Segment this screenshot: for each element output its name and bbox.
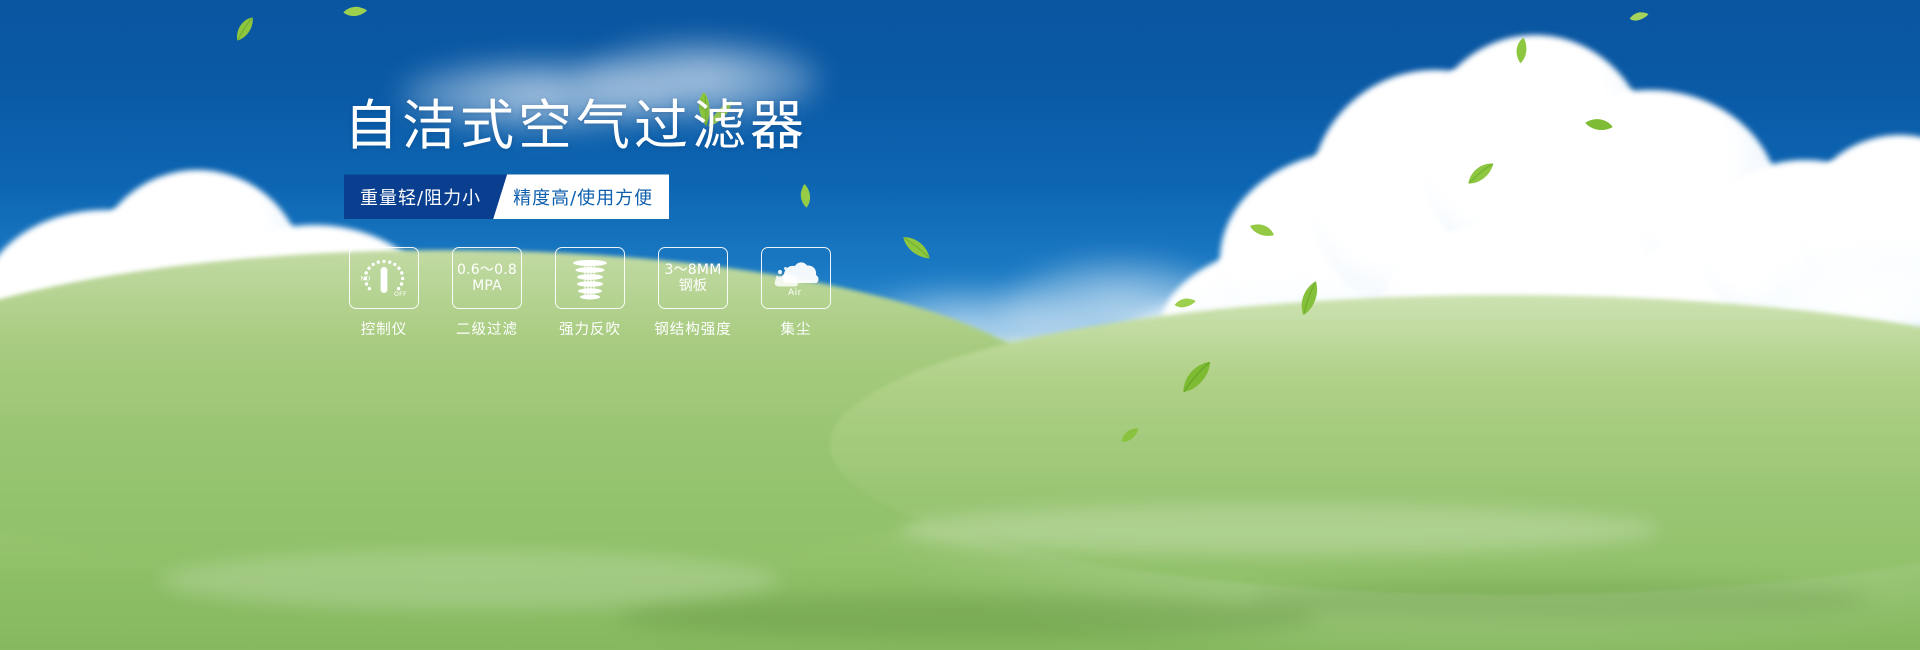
- feature-box-control: NO OFF: [349, 247, 419, 309]
- leaf-icon: [1511, 37, 1534, 64]
- dust-cloud-air-icon: Air: [771, 258, 821, 298]
- badge-weight-resistance: 重量轻/阻力小: [344, 174, 507, 219]
- badge-precision-convenience: 精度高/使用方便: [493, 174, 669, 219]
- feature-item-steel: 3～8MM 钢板 钢结构强度: [653, 247, 733, 339]
- feature-list: NO OFF 控制仪 0.6～0.8 MPA 二级过滤: [344, 247, 1064, 339]
- leaf-icon: [1464, 162, 1497, 186]
- feature-box-backblow: [555, 247, 625, 309]
- svg-text:NO: NO: [361, 276, 371, 283]
- feature-item-filtration: 0.6～0.8 MPA 二级过滤: [447, 247, 527, 339]
- control-gauge-icon: NO OFF: [358, 255, 410, 301]
- feature-label-dust: 集尘: [756, 318, 836, 339]
- feature-label-backblow: 强力反吹: [550, 318, 630, 339]
- steel-plate-text-icon: 3～8MM 钢板: [665, 262, 722, 295]
- svg-text:Air: Air: [788, 288, 802, 298]
- hero-banner: 自洁式空气过滤器 重量轻/阻力小 精度高/使用方便: [0, 0, 1920, 650]
- banner-content: 自洁式空气过滤器 重量轻/阻力小 精度高/使用方便: [344, 96, 1064, 339]
- pressure-text-icon: 0.6～0.8 MPA: [457, 262, 517, 295]
- feature-label-steel: 钢结构强度: [653, 318, 733, 339]
- feature-item-dust: Air 集尘: [756, 247, 836, 339]
- feature-label-control: 控制仪: [344, 318, 424, 339]
- steel-material: 钢板: [665, 278, 722, 295]
- leaf-icon: [1629, 11, 1648, 23]
- leaf-icon: [343, 3, 368, 21]
- leaf-icon: [1584, 112, 1614, 137]
- leaf-icon: [1174, 296, 1196, 311]
- leaf-icon: [230, 16, 259, 42]
- tagline-badges: 重量轻/阻力小 精度高/使用方便: [344, 174, 669, 219]
- feature-label-filtration: 二级过滤: [447, 318, 527, 339]
- steel-thickness: 3～8MM: [665, 262, 722, 279]
- page-title: 自洁式空气过滤器: [344, 96, 1064, 156]
- feature-item-backblow: 强力反吹: [550, 247, 630, 339]
- filter-coil-icon: [567, 255, 613, 301]
- feature-box-steel: 3～8MM 钢板: [658, 247, 728, 309]
- svg-text:OFF: OFF: [394, 291, 407, 298]
- leaf-icon: [1249, 218, 1276, 244]
- grass-field: [0, 420, 1920, 650]
- feature-box-filtration: 0.6～0.8 MPA: [452, 247, 522, 309]
- pressure-value: 0.6～0.8: [457, 262, 517, 279]
- pressure-unit: MPA: [457, 278, 517, 295]
- grass-shadow-1: [620, 595, 1320, 640]
- feature-item-control: NO OFF 控制仪: [344, 247, 424, 339]
- feature-box-dust: Air: [761, 247, 831, 309]
